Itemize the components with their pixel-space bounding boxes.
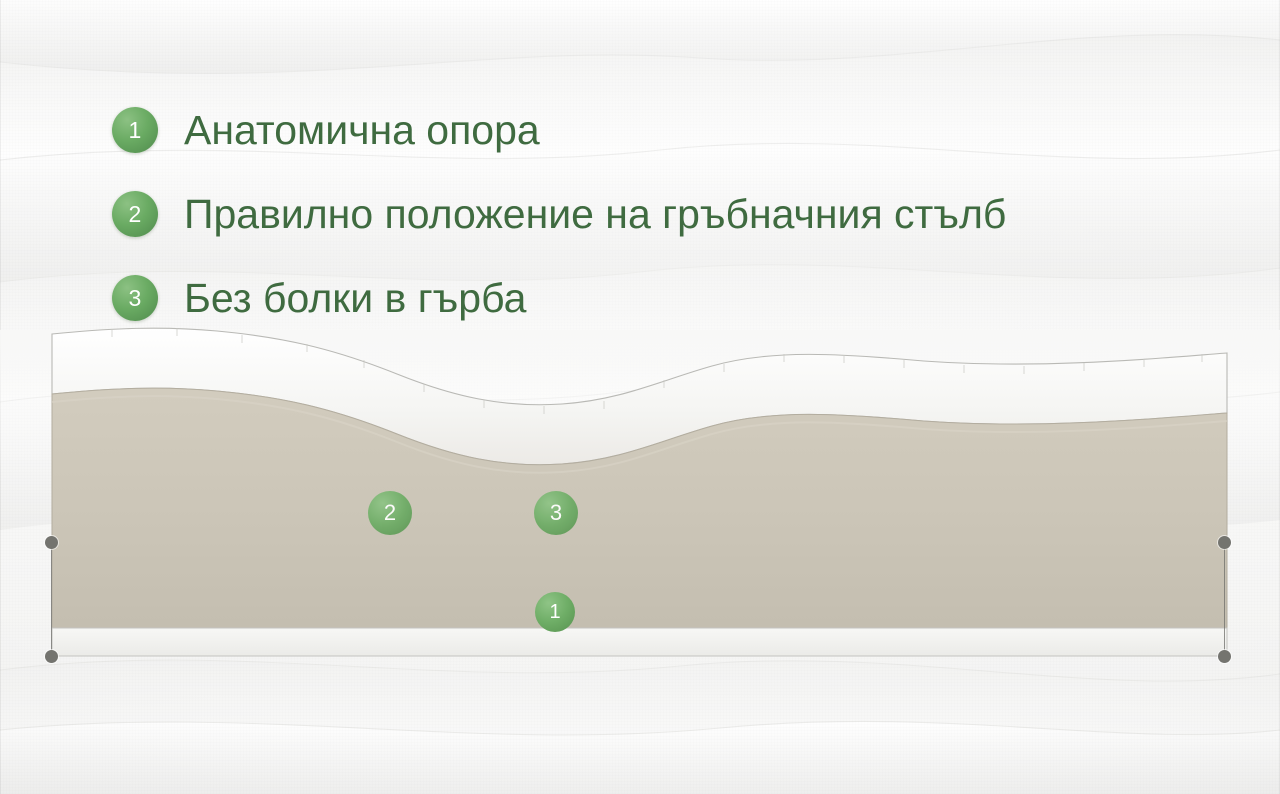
- marker-badge-2: 2: [368, 491, 412, 535]
- infographic-canvas: 1 Анатомична опора 2 Правилно положение …: [0, 0, 1280, 794]
- handle-dot-bottom-right-icon[interactable]: [1218, 650, 1231, 663]
- handle-dot-bottom-left-icon[interactable]: [45, 650, 58, 663]
- handle-dot-top-left-icon[interactable]: [45, 536, 58, 549]
- benefit-label-1: Анатомична опора: [184, 110, 540, 151]
- benefit-item-1: 1 Анатомична опора: [112, 88, 1162, 172]
- bottom-cover-layer: [52, 628, 1227, 656]
- marker-badge-3: 3: [534, 491, 578, 535]
- number-badge-icon: 1: [112, 107, 158, 153]
- left-measure-guide: [51, 543, 52, 657]
- mattress-cross-section: [52, 208, 1227, 660]
- mattress-layers: [52, 208, 1227, 660]
- right-measure-guide: [1224, 543, 1225, 657]
- marker-badge-1: 1: [535, 592, 575, 632]
- handle-dot-top-right-icon[interactable]: [1218, 536, 1231, 549]
